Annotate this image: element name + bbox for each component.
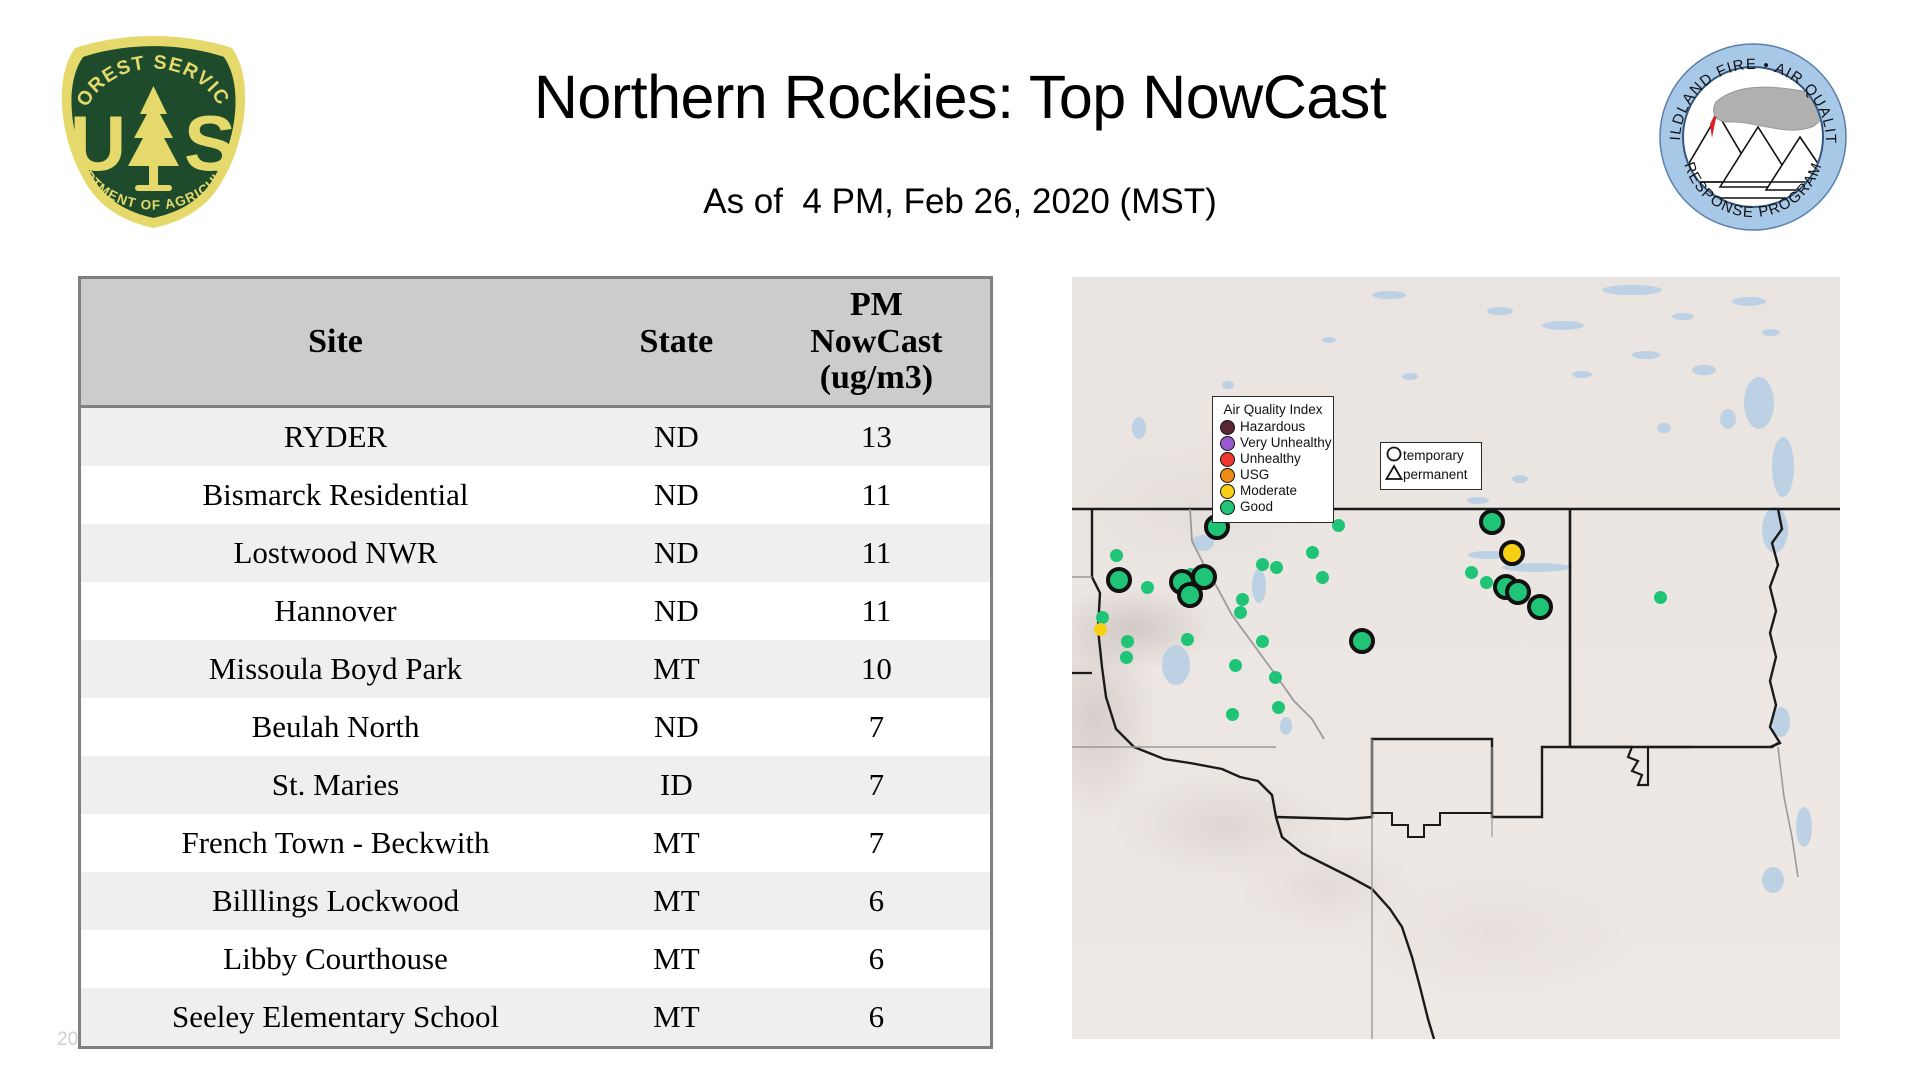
site-cell: RYDER xyxy=(81,407,590,467)
monitor-marker[interactable] xyxy=(1096,611,1109,624)
site-cell: Missoula Boyd Park xyxy=(81,640,590,698)
aqi-legend-row: Moderate xyxy=(1220,483,1326,499)
aqi-legend-label: Hazardous xyxy=(1240,420,1305,434)
aqi-legend-swatch xyxy=(1220,436,1235,451)
column-header-state: State xyxy=(590,279,763,407)
aqi-legend-label: Unhealthy xyxy=(1240,452,1301,466)
site-cell: Billlings Lockwood xyxy=(81,872,590,930)
aqi-legend-title: Air Quality Index xyxy=(1220,402,1326,417)
pm-nowcast-cell: 10 xyxy=(763,640,990,698)
monitor-marker[interactable] xyxy=(1256,558,1269,571)
aqi-legend: Air Quality Index HazardousVery Unhealth… xyxy=(1212,396,1334,523)
site-cell: St. Maries xyxy=(81,756,590,814)
state-cell: MT xyxy=(590,988,763,1046)
state-cell: ND xyxy=(590,698,763,756)
wfaqrp-logo: WILDLAND FIRE • AIR QUALITY RESPONSE PRO… xyxy=(1658,42,1848,232)
state-cell: MT xyxy=(590,814,763,872)
aqi-legend-label: Good xyxy=(1240,500,1273,514)
monitor-marker[interactable] xyxy=(1272,701,1285,714)
monitor-marker[interactable] xyxy=(1110,549,1123,562)
pm-nowcast-cell: 11 xyxy=(763,582,990,640)
pm-nowcast-cell: 6 xyxy=(763,930,990,988)
state-cell: ND xyxy=(590,582,763,640)
state-cell: ND xyxy=(590,466,763,524)
monitor-marker[interactable] xyxy=(1480,576,1493,589)
aqi-legend-label: Moderate xyxy=(1240,484,1297,498)
monitor-marker[interactable] xyxy=(1141,581,1154,594)
page-title: Northern Rockies: Top NowCast xyxy=(300,62,1620,132)
monitor-marker[interactable] xyxy=(1499,540,1525,566)
state-cell: ND xyxy=(590,524,763,582)
monitor-marker[interactable] xyxy=(1527,594,1553,620)
monitor-marker[interactable] xyxy=(1270,561,1283,574)
temporary-circle-icon xyxy=(1388,447,1401,460)
site-cell: Bismarck Residential xyxy=(81,466,590,524)
monitor-marker[interactable] xyxy=(1121,635,1134,648)
monitor-marker[interactable] xyxy=(1234,606,1247,619)
state-cell: MT xyxy=(590,930,763,988)
column-header-pm-line3: (ug/m3) xyxy=(767,360,986,397)
table-row: St. MariesID7 xyxy=(81,756,990,814)
aqi-legend-row: USG xyxy=(1220,467,1326,483)
pm-nowcast-cell: 11 xyxy=(763,524,990,582)
monitor-marker[interactable] xyxy=(1654,591,1667,604)
symbol-legend-label-temporary: temporary xyxy=(1403,447,1468,466)
aqi-legend-label: Very Unhealthy xyxy=(1240,436,1332,450)
monitor-marker[interactable] xyxy=(1269,671,1282,684)
site-cell: Libby Courthouse xyxy=(81,930,590,988)
pm-nowcast-cell: 6 xyxy=(763,988,990,1046)
symbol-legend-glyphs xyxy=(1385,444,1403,489)
aqi-legend-swatch xyxy=(1220,452,1235,467)
table-row: RYDERND13 xyxy=(81,407,990,467)
monitor-marker[interactable] xyxy=(1236,593,1249,606)
site-cell: Hannover xyxy=(81,582,590,640)
monitor-marker[interactable] xyxy=(1349,628,1375,654)
fs-logo-s: S xyxy=(184,99,236,187)
pm-nowcast-cell: 11 xyxy=(763,466,990,524)
pm-nowcast-cell: 7 xyxy=(763,698,990,756)
monitor-marker[interactable] xyxy=(1191,564,1217,590)
aqi-legend-swatch xyxy=(1220,484,1235,499)
table-row: HannoverND11 xyxy=(81,582,990,640)
map-marker-layer xyxy=(1072,277,1840,1039)
site-cell: French Town - Beckwith xyxy=(81,814,590,872)
site-cell: Seeley Elementary School xyxy=(81,988,590,1046)
monitor-marker[interactable] xyxy=(1256,635,1269,648)
column-header-pm-line1: PM xyxy=(767,287,986,324)
aqi-legend-swatch xyxy=(1220,468,1235,483)
aqi-legend-row: Very Unhealthy xyxy=(1220,435,1326,451)
monitor-marker[interactable] xyxy=(1316,571,1329,584)
air-quality-map[interactable] xyxy=(1072,277,1840,1039)
state-cell: MT xyxy=(590,640,763,698)
pm-nowcast-cell: 7 xyxy=(763,756,990,814)
table-row: Libby CourthouseMT6 xyxy=(81,930,990,988)
column-header-site: Site xyxy=(81,279,590,407)
monitor-marker[interactable] xyxy=(1106,567,1132,593)
table-row: French Town - BeckwithMT7 xyxy=(81,814,990,872)
aqi-legend-row: Good xyxy=(1220,499,1326,515)
monitor-marker[interactable] xyxy=(1229,659,1242,672)
monitor-marker[interactable] xyxy=(1479,509,1505,535)
aqi-legend-row: Unhealthy xyxy=(1220,451,1326,467)
page-subtitle: As of 4 PM, Feb 26, 2020 (MST) xyxy=(300,182,1620,222)
table-header-row: Site State PM NowCast (ug/m3) xyxy=(81,279,990,407)
site-cell: Lostwood NWR xyxy=(81,524,590,582)
monitor-marker[interactable] xyxy=(1465,566,1478,579)
monitor-marker[interactable] xyxy=(1120,651,1133,664)
state-cell: MT xyxy=(590,872,763,930)
aqi-legend-swatch xyxy=(1220,500,1235,515)
pm-nowcast-cell: 7 xyxy=(763,814,990,872)
nowcast-table: Site State PM NowCast (ug/m3) RYDERND13B… xyxy=(78,276,993,1049)
column-header-pm-nowcast: PM NowCast (ug/m3) xyxy=(763,279,990,407)
table-row: Missoula Boyd ParkMT10 xyxy=(81,640,990,698)
monitor-marker[interactable] xyxy=(1306,546,1319,559)
aqi-legend-row: Hazardous xyxy=(1220,419,1326,435)
table-row: Beulah NorthND7 xyxy=(81,698,990,756)
state-cell: ID xyxy=(590,756,763,814)
symbol-legend-label-permanent: permanent xyxy=(1403,466,1468,485)
table-row: Bismarck ResidentialND11 xyxy=(81,466,990,524)
aqi-legend-label: USG xyxy=(1240,468,1269,482)
table-row: Lostwood NWRND11 xyxy=(81,524,990,582)
pm-nowcast-cell: 6 xyxy=(763,872,990,930)
column-header-pm-line2: NowCast xyxy=(767,324,986,361)
monitor-marker[interactable] xyxy=(1181,633,1194,646)
monitor-marker[interactable] xyxy=(1094,623,1107,636)
aqi-legend-swatch xyxy=(1220,420,1235,435)
state-cell: ND xyxy=(590,407,763,467)
forest-service-logo: FOREST SERVICE DEPARTMENT OF AGRICULTURE… xyxy=(46,28,261,233)
site-cell: Beulah North xyxy=(81,698,590,756)
table-row: Billlings LockwoodMT6 xyxy=(81,872,990,930)
permanent-triangle-icon xyxy=(1387,466,1402,479)
pm-nowcast-cell: 13 xyxy=(763,407,990,467)
symbol-legend: temporary permanent xyxy=(1380,442,1482,490)
monitor-marker[interactable] xyxy=(1226,708,1239,721)
fs-logo-u: U xyxy=(70,99,126,187)
table-row: Seeley Elementary SchoolMT6 xyxy=(81,988,990,1046)
